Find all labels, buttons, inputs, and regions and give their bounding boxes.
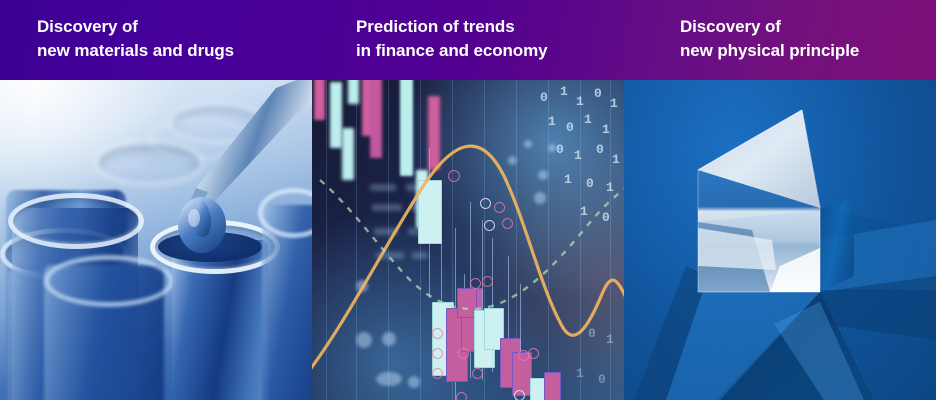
chart-binary-digit: 0	[596, 142, 604, 157]
header-title-physics: Discovery ofnew physical principle	[680, 15, 859, 63]
chart-binary-digit: 1	[602, 122, 610, 137]
chart-binary-digit: 1	[576, 366, 584, 381]
chart-binary-digit: 1	[584, 112, 592, 127]
prism-scene	[624, 80, 936, 400]
chart-binary-digit: 1	[612, 152, 620, 167]
chart-binary-digit: 1	[606, 180, 614, 195]
panel-finance-chart: 0 1 1 0 1 1 0 1 1 0 1 0 1 1 0 1 1 0 0 1 …	[312, 80, 624, 400]
header-title-materials-line1: Discovery of	[37, 17, 138, 36]
chart-binary-digit: 0	[588, 326, 596, 341]
header-title-finance-line2: in finance and economy	[356, 41, 547, 60]
chart-binary-digit: 0	[556, 142, 564, 157]
panel-prism	[624, 80, 936, 400]
chart-binary-digit: 1	[564, 172, 572, 187]
chart-binary-digit: 1	[560, 84, 568, 99]
chart-trend-curves	[312, 80, 624, 400]
header-cell-finance: Prediction of trendsin finance and econo…	[312, 0, 624, 80]
chart-binary-digit: 1	[576, 94, 584, 109]
chart-binary-digit: 0	[540, 90, 548, 105]
chart-binary-digit: 1	[580, 204, 588, 219]
lab-pipette-icon	[0, 80, 312, 400]
chart-binary-digit: 1	[606, 332, 614, 347]
chart-binary-digit: 0	[598, 372, 606, 387]
chart-binary-digit: 0	[566, 120, 574, 135]
header-title-physics-line1: Discovery of	[680, 17, 781, 36]
panel-row: 0 1 1 0 1 1 0 1 1 0 1 0 1 1 0 1 1 0 0 1 …	[0, 80, 936, 400]
header-title-finance: Prediction of trendsin finance and econo…	[356, 15, 547, 63]
header-title-finance-line1: Prediction of trends	[356, 17, 515, 36]
prism-right-face	[820, 198, 854, 292]
header-bar: Discovery ofnew materials and drugs Pred…	[0, 0, 936, 80]
chart-binary-digit: 1	[610, 96, 618, 111]
chart-binary-digit: 1	[548, 114, 556, 129]
panel-lab-testtubes	[0, 80, 312, 400]
chart-binary-digit: 1	[574, 148, 582, 163]
header-title-physics-line2: new physical principle	[680, 41, 859, 60]
header-title-materials-line2: new materials and drugs	[37, 41, 234, 60]
chart-binary-digit: 0	[586, 176, 594, 191]
header-title-materials: Discovery ofnew materials and drugs	[37, 15, 234, 63]
header-cell-physics: Discovery ofnew physical principle	[624, 0, 936, 80]
chart-binary-digit: 0	[602, 210, 610, 225]
header-cell-materials: Discovery ofnew materials and drugs	[0, 0, 312, 80]
banner-stage: Discovery ofnew materials and drugs Pred…	[0, 0, 936, 400]
chart-binary-digit: 0	[594, 86, 602, 101]
